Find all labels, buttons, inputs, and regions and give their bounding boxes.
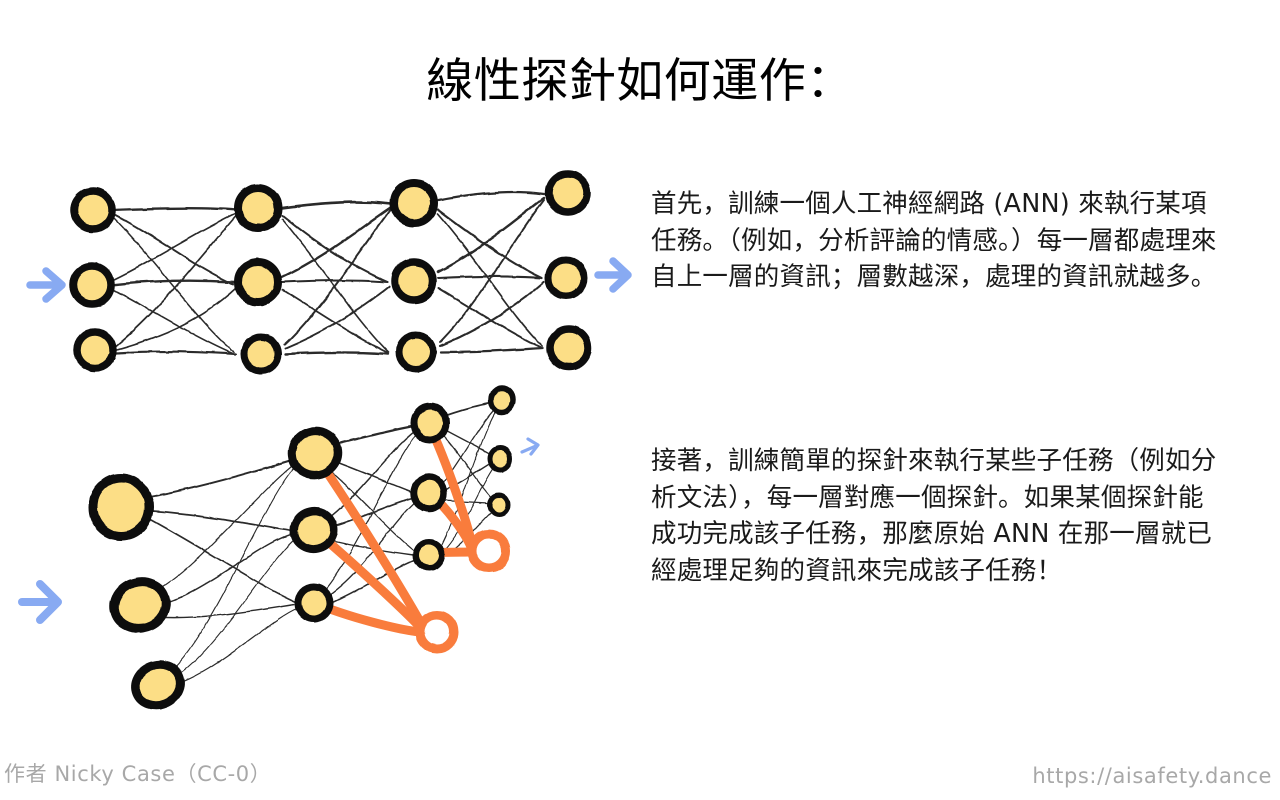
- slide-canvas: 線性探針如何運作：: [0, 0, 1280, 800]
- node-input-2: [108, 575, 172, 635]
- node-input-3: [129, 658, 187, 712]
- node-l2-2: [290, 507, 337, 552]
- input-arrow-icon: [22, 584, 58, 620]
- input-arrow-icon: [30, 271, 62, 299]
- edges-layer-1-2: [112, 208, 236, 354]
- diagram-ann-flat: [20, 160, 640, 390]
- node-l2-1: [288, 427, 342, 480]
- edges-layer-3-4: [438, 192, 544, 352]
- diagram-ann-with-probes: [20, 380, 640, 730]
- node-l3-2: [414, 477, 444, 509]
- output-arrow-icon: [598, 261, 628, 289]
- node-l3-3: [416, 542, 442, 568]
- node-input-1: [93, 478, 149, 536]
- paragraph-train-ann: 首先，訓練一個人工神經網路 (ANN) 來執行某項任務。（例如，分析評論的情感。…: [651, 186, 1217, 296]
- node-out-2: [490, 448, 510, 470]
- node-l3-1: [414, 406, 446, 440]
- node-out-1: [491, 388, 513, 412]
- paragraph-train-probes: 接著，訓練簡單的探針來執行某些子任務（例如分析文法），每一層對應一個探針。如果某…: [651, 443, 1217, 589]
- output-arrow-small-icon: [522, 439, 538, 454]
- edges-probe-layer-1-2: [142, 458, 300, 688]
- node-out-3: [490, 495, 508, 515]
- probe-node-lower: [420, 615, 454, 649]
- footer-author-credit: 作者 Nicky Case（CC-0）: [4, 758, 271, 788]
- edges-layer-2-3: [282, 202, 390, 354]
- footer-website-url[interactable]: https://aisafety.dance: [1032, 764, 1272, 788]
- probe-node-upper: [472, 534, 506, 568]
- page-title: 線性探針如何運作：: [0, 54, 1280, 109]
- node-l2-3: [295, 584, 333, 622]
